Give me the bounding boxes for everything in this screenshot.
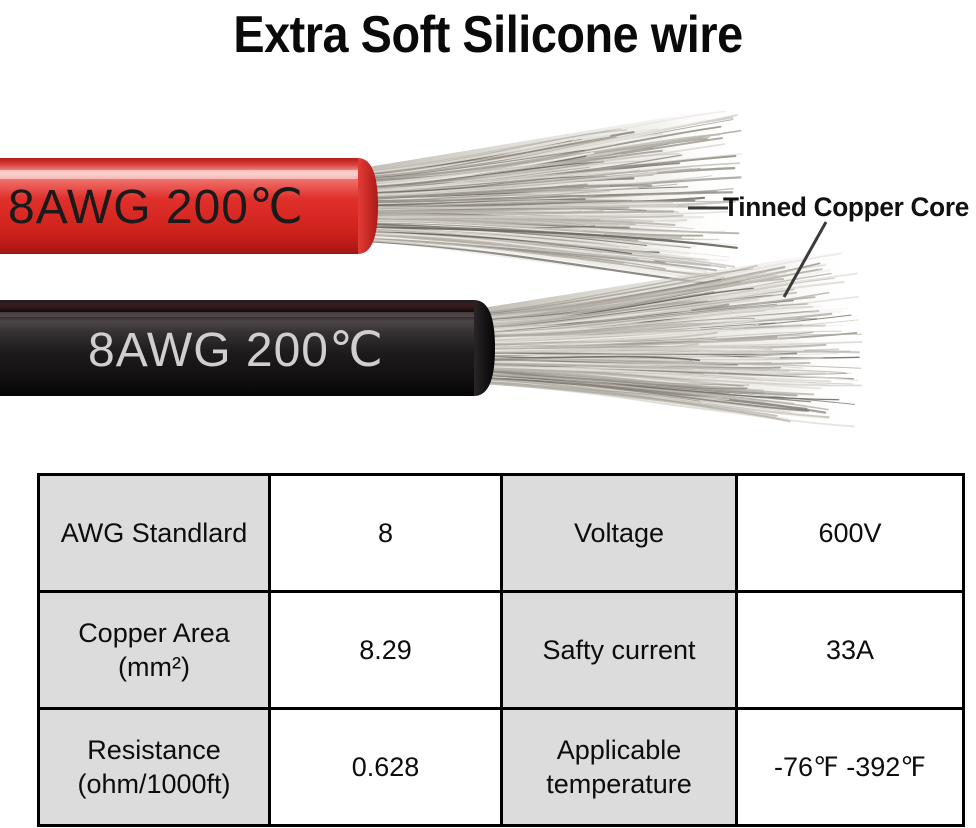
table-row: AWG Standlard 8 Voltage 600V [39, 475, 964, 592]
spec-value-safety-current: 33A [737, 592, 964, 709]
wire-illustration: 8AWG 200℃ 8AWG 200℃ [0, 96, 976, 441]
spec-value-copper-area: 8.29 [270, 592, 502, 709]
spec-label-applicable-temperature: Applicable temperature [502, 709, 737, 826]
specification-table: AWG Standlard 8 Voltage 600V Copper Area… [37, 473, 965, 827]
table-row: Resistance (ohm/1000ft) 0.628 Applicable… [39, 709, 964, 826]
black-wire: 8AWG 200℃ [0, 248, 862, 426]
black-wire-print-text: 8AWG 200℃ [88, 324, 384, 377]
spec-label-awg-standard: AWG Standlard [39, 475, 270, 592]
spec-label-safety-current: Safty current [502, 592, 737, 709]
red-wire-print-text: 8AWG 200℃ [8, 181, 304, 234]
red-wire-copper-strands [350, 106, 742, 288]
spec-value-resistance: 0.628 [270, 709, 502, 826]
wire-illustration-svg: 8AWG 200℃ 8AWG 200℃ [0, 96, 976, 441]
spec-value-applicable-temperature: -76℉ -392℉ [737, 709, 964, 826]
spec-value-awg-standard: 8 [270, 475, 502, 592]
spec-value-voltage: 600V [737, 475, 964, 592]
spec-label-voltage: Voltage [502, 475, 737, 592]
spec-label-copper-area: Copper Area (mm²) [39, 592, 270, 709]
table-row: Copper Area (mm²) 8.29 Safty current 33A [39, 592, 964, 709]
callout-label-tinned-copper-core: Tinned Copper Core [723, 192, 969, 223]
red-wire: 8AWG 200℃ [0, 106, 742, 288]
page-title: Extra Soft Silicone wire [49, 4, 927, 66]
spec-label-resistance: Resistance (ohm/1000ft) [39, 709, 270, 826]
